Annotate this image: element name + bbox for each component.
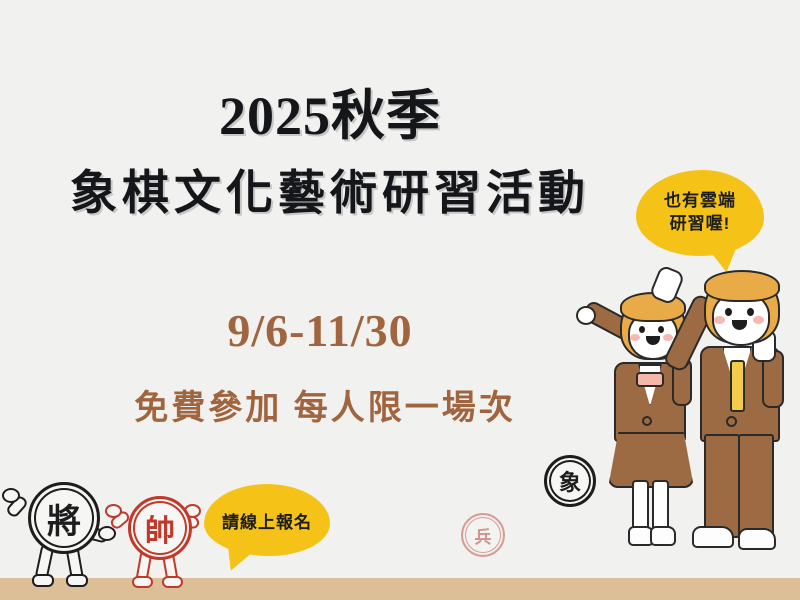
- boy-shoe-left: [692, 526, 734, 548]
- boy-button: [726, 416, 737, 427]
- girl-hand-left: [576, 306, 596, 325]
- chess-piece-soldier: 兵: [461, 513, 505, 559]
- piece-foot-left: [32, 574, 54, 587]
- piece-hand-left: [2, 488, 20, 503]
- poster-canvas: 2025秋季 象棋文化藝術研習活動 9/6-11/30 免費參加 每人限一場次 …: [0, 0, 800, 600]
- boy-necktie: [730, 360, 745, 412]
- boy-eye-right: [747, 308, 754, 316]
- girl-cheek-right: [663, 334, 673, 341]
- girl-eye-left: [639, 326, 645, 333]
- boy-cheek-right: [753, 316, 764, 324]
- piece-face-general: 將: [28, 482, 100, 554]
- piece-foot-right: [162, 576, 183, 588]
- poster-title-line1: 2025秋季: [0, 88, 660, 145]
- cloud-bubble-line2: 研習喔!: [670, 213, 731, 236]
- poster-title-line2: 象棋文化藝術研習活動: [0, 169, 660, 220]
- girl-eye-right: [658, 326, 664, 333]
- chess-piece-marshal: 帥: [118, 496, 194, 592]
- piece-face-soldier: 兵: [461, 513, 505, 557]
- event-date-range: 9/6-11/30: [0, 304, 640, 357]
- event-note: 免費參加 每人限一場次: [0, 380, 650, 429]
- girl-ribbon-bow: [636, 372, 664, 387]
- boy-trouser-left: [704, 434, 740, 538]
- piece-foot-right: [66, 574, 88, 587]
- boy-shoe-right: [738, 528, 776, 550]
- cloud-course-bubble[interactable]: 也有雲端 研習喔!: [636, 170, 764, 256]
- girl-button: [642, 416, 652, 426]
- piece-foot-left: [132, 576, 153, 588]
- girl-cheek-left: [630, 334, 640, 341]
- piece-face-marshal: 帥: [128, 496, 192, 560]
- boy-cheek-left: [714, 316, 725, 324]
- girl-skirt: [608, 432, 694, 488]
- online-signup-bubble[interactable]: 請線上報名: [204, 484, 330, 556]
- boy-eye-left: [725, 308, 732, 316]
- piece-hand-left: [105, 504, 122, 518]
- student-illustration: [586, 250, 800, 580]
- cloud-bubble-line1: 也有雲端: [664, 190, 736, 213]
- boy-trouser-right: [738, 434, 774, 538]
- headline-block: 2025秋季 象棋文化藝術研習活動: [0, 88, 660, 219]
- girl-shoe-right: [650, 526, 676, 546]
- boy-bangs: [704, 270, 780, 302]
- speech-tail-icon: [221, 545, 253, 575]
- signup-bubble-label: 請線上報名: [222, 508, 312, 533]
- chess-piece-general: 將: [22, 482, 102, 592]
